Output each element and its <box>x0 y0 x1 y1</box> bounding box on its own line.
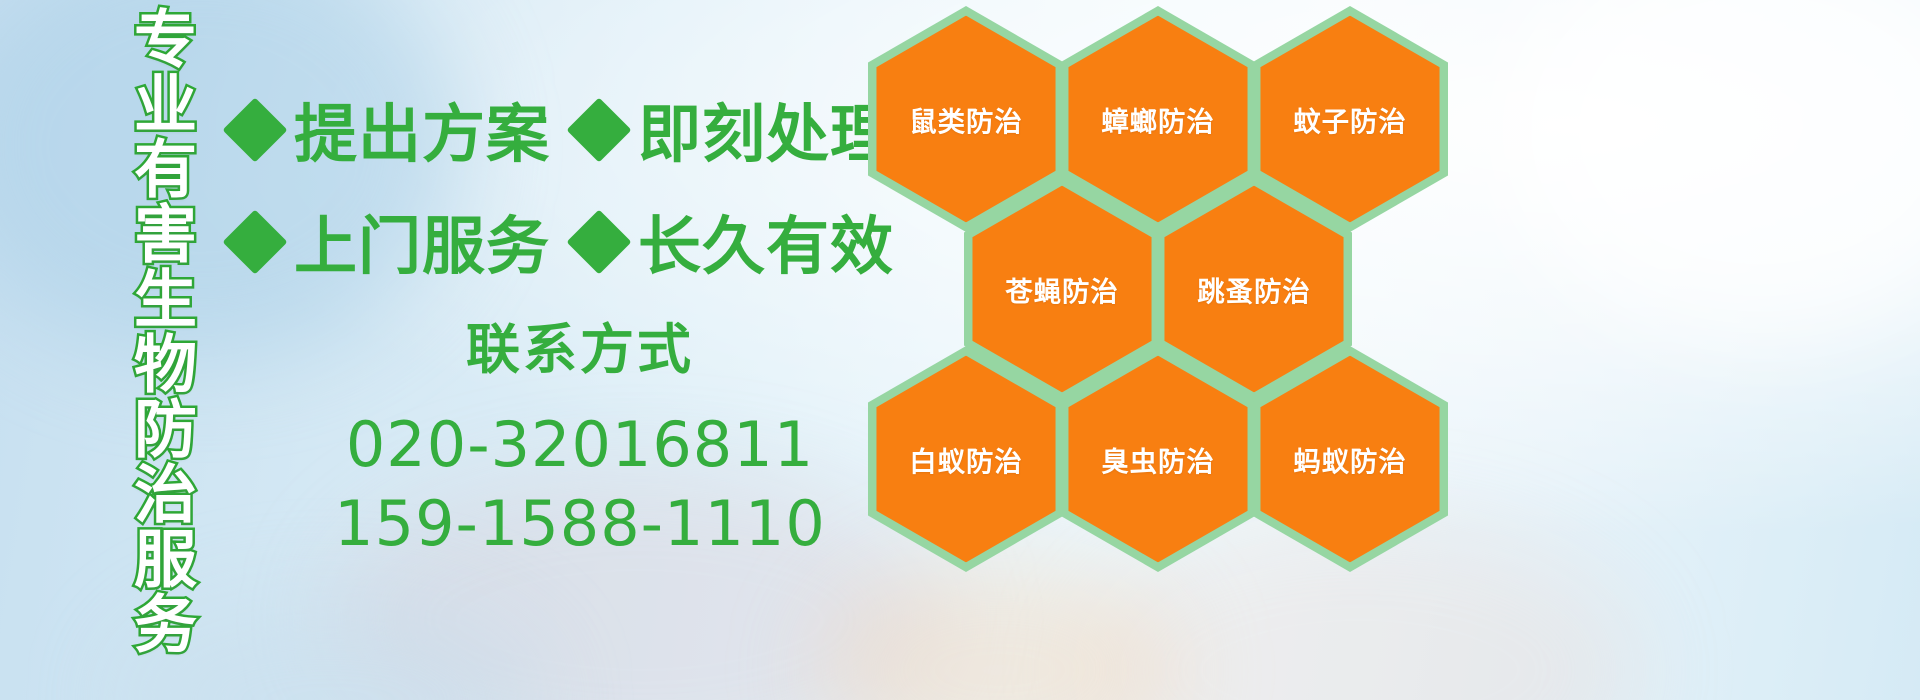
diamond-bullet-icon <box>222 209 287 274</box>
feature-row-2: 上门服务 长久有效 <box>232 196 894 287</box>
hex-cell-bedbug[interactable]: 臭虫防治 <box>1060 346 1256 572</box>
feature-label-door-service: 上门服务 <box>294 196 550 287</box>
diamond-bullet-icon <box>222 97 287 162</box>
hex-label: 臭虫防治 <box>1101 439 1214 479</box>
service-honeycomb: 鼠类防治 蟑螂防治 蚊子防治 苍蝇防治 跳蚤防治 <box>862 0 1462 560</box>
feature-label-long-lasting: 长久有效 <box>638 196 894 287</box>
hex-label: 蟑螂防治 <box>1101 99 1214 139</box>
hex-label: 跳蚤防治 <box>1197 269 1310 309</box>
contact-heading: 联系方式 <box>300 318 860 383</box>
feature-row-1: 提出方案 即刻处理 <box>232 84 894 175</box>
background-blob <box>0 0 460 360</box>
background-blob <box>1500 0 1920 340</box>
background-blob <box>820 560 1180 700</box>
phone-landline[interactable]: 020-32016811 <box>300 405 860 484</box>
hex-label: 苍蝇防治 <box>1005 269 1118 309</box>
diamond-bullet-icon <box>566 97 631 162</box>
banner-canvas: 专业有害生物防治服务 提出方案 即刻处理 上门服务 长久有效 联系方式 020-… <box>0 0 1920 700</box>
hex-cell-termite[interactable]: 白蚁防治 <box>868 346 1064 572</box>
hex-label: 鼠类防治 <box>909 99 1022 139</box>
feature-label-immediate-handling: 即刻处理 <box>638 84 894 175</box>
hex-label: 白蚁防治 <box>909 439 1022 479</box>
hex-label: 蚂蚁防治 <box>1293 439 1406 479</box>
feature-label-propose-plan: 提出方案 <box>294 84 550 175</box>
vertical-headline: 专业有害生物防治服务 <box>100 6 192 656</box>
diamond-bullet-icon <box>566 209 631 274</box>
hex-cell-ant[interactable]: 蚂蚁防治 <box>1252 346 1448 572</box>
contact-block: 联系方式 020-32016811 159-1588-1110 <box>300 318 860 564</box>
phone-mobile[interactable]: 159-1588-1110 <box>300 484 860 563</box>
hex-label: 蚊子防治 <box>1293 99 1406 139</box>
